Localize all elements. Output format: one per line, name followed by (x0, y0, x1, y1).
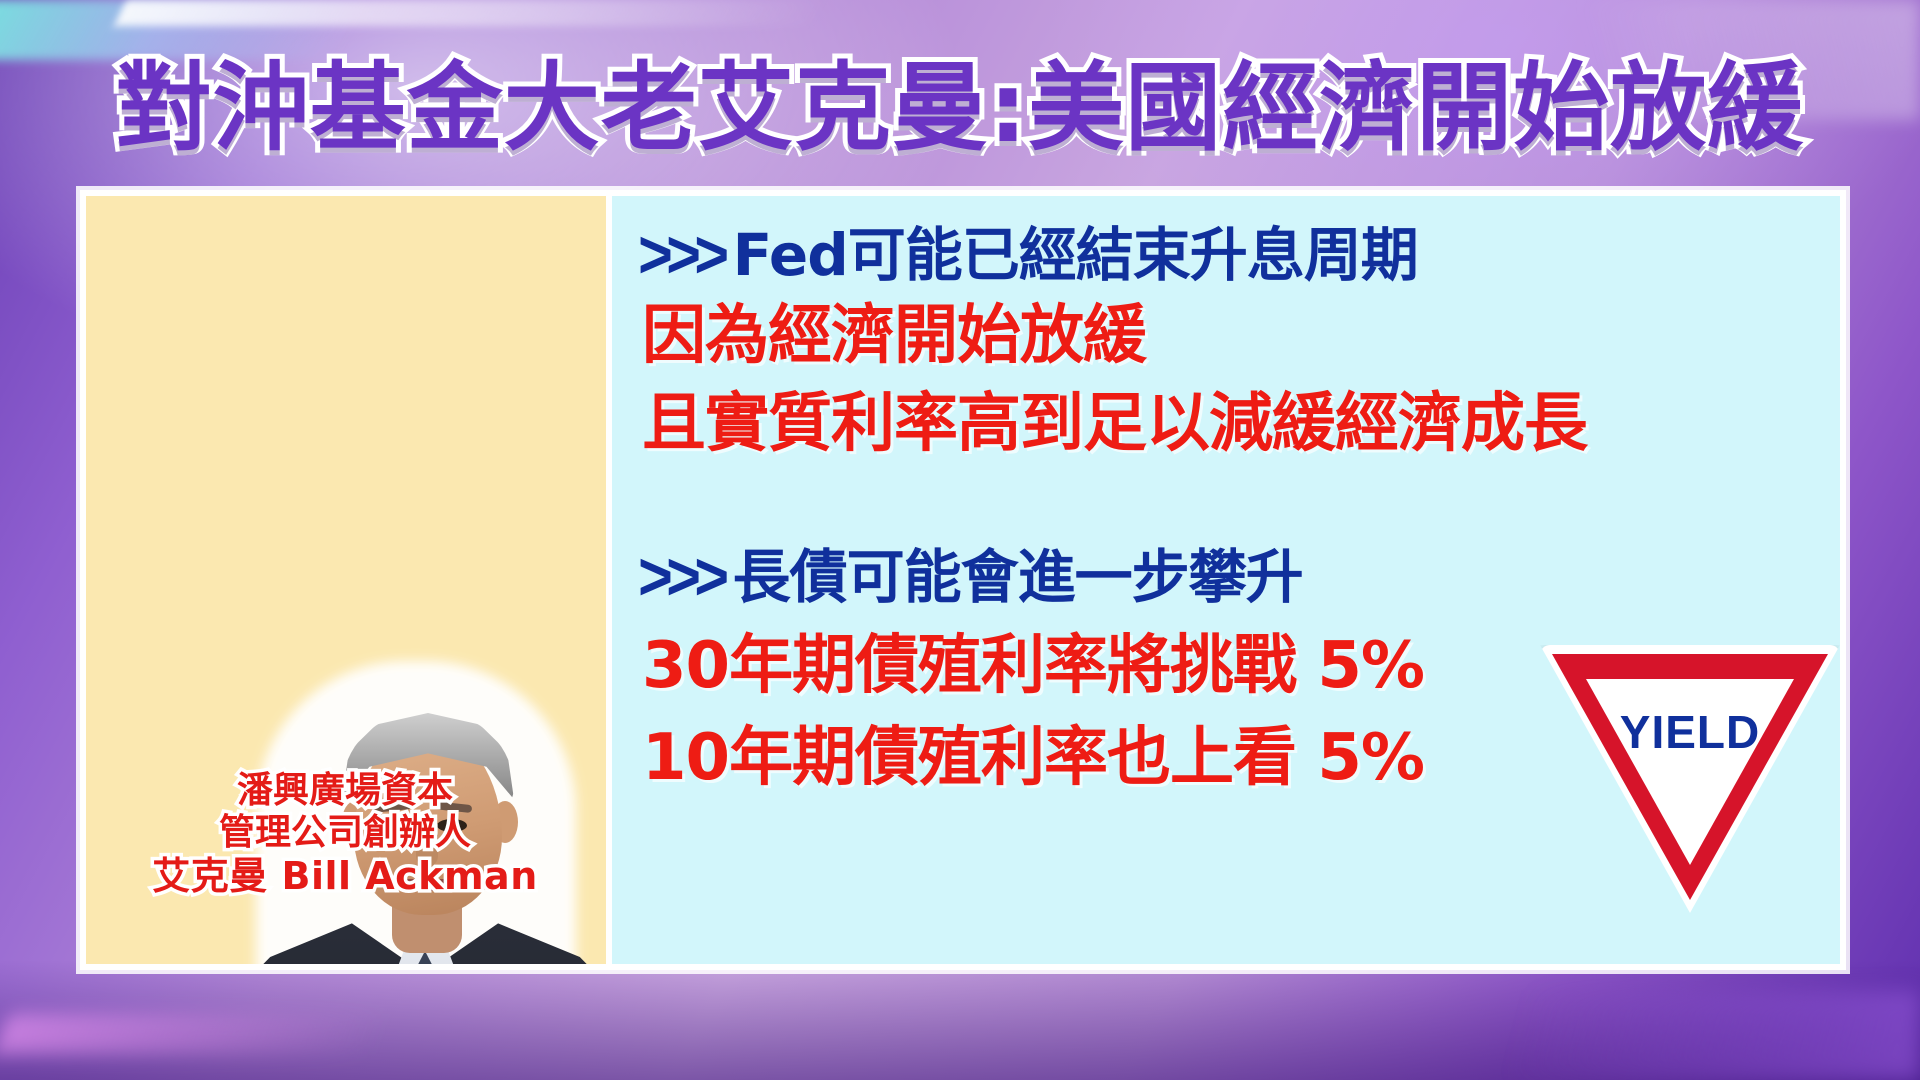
yield-sign-label: YIELD (1540, 705, 1840, 759)
broadcast-graphic-stage: 對沖基金大老艾克曼:美國經濟開始放緩 潘興廣場資本 管理公司創辦人 艾克曼 Bi… (0, 0, 1920, 1080)
bullet-heading-1: >>> Fed可能已經結束升息周期 (642, 226, 1418, 284)
person-caption: 潘興廣場資本 管理公司創辦人 艾克曼 Bill Ackman (110, 770, 580, 898)
bullet-detail-2-2: 10年期債殖利率也上看 5% (642, 726, 1424, 790)
chevron-right-icon: >>> (638, 221, 722, 289)
background-light-streak (114, 0, 826, 26)
bullet-detail-2-1-text: 30年期債殖利率將挑戰 5% (642, 634, 1424, 698)
bullet-heading-2-text: 長債可能會進一步攀升 (733, 548, 1303, 606)
bullet-detail-1-1-text: 因為經濟開始放緩 (642, 304, 1146, 368)
title-bar: 對沖基金大老艾克曼:美國經濟開始放緩 (0, 48, 1920, 168)
bullet-detail-1-2: 且實質利率高到足以減緩經濟成長 (642, 392, 1587, 456)
caption-line-3-name: 艾克曼 Bill Ackman (110, 854, 580, 898)
bullet-heading-2: >>> 長債可能會進一步攀升 (642, 548, 1303, 606)
bullet-detail-1-2-text: 且實質利率高到足以減緩經濟成長 (642, 392, 1587, 456)
caption-line-2: 管理公司創辦人 (110, 812, 580, 854)
bullet-detail-2-2-text: 10年期債殖利率也上看 5% (642, 726, 1424, 790)
background-light-streak (0, 1014, 387, 1054)
page-title: 對沖基金大老艾克曼:美國經濟開始放緩 (116, 60, 1804, 156)
background-light-streak (1350, 990, 1920, 1080)
bullet-heading-1-text: Fed可能已經結束升息周期 (733, 226, 1418, 284)
caption-line-1: 潘興廣場資本 (110, 770, 580, 812)
bullet-detail-2-1: 30年期債殖利率將挑戰 5% (642, 634, 1424, 698)
background-bottom-shade (0, 960, 1920, 1080)
yield-sign-icon: YIELD (1540, 645, 1840, 925)
bullet-detail-1-1: 因為經濟開始放緩 (642, 304, 1146, 368)
chevron-right-icon: >>> (638, 543, 722, 611)
